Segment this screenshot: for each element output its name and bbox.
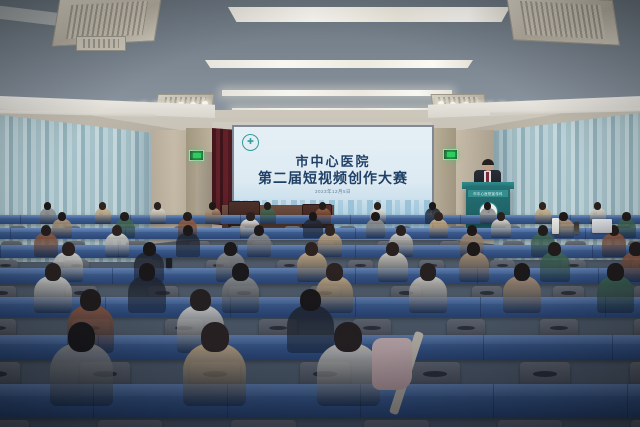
person-torso xyxy=(409,276,446,313)
person-torso xyxy=(540,252,570,282)
person-head xyxy=(319,202,326,210)
person-torso xyxy=(176,233,200,257)
audience-person xyxy=(222,263,259,318)
person-head xyxy=(224,242,237,256)
desk-seam xyxy=(0,245,1,258)
person-head xyxy=(246,212,255,221)
desk-seam xyxy=(350,215,351,224)
person-head xyxy=(429,202,436,210)
person-torso xyxy=(535,208,551,224)
person-head xyxy=(183,225,194,236)
person-head xyxy=(334,322,362,352)
audience-chair[interactable] xyxy=(0,420,29,427)
audience-person xyxy=(247,225,271,260)
person-head xyxy=(386,242,399,256)
audience-chair[interactable] xyxy=(364,420,429,427)
desk-seam xyxy=(493,384,494,418)
person-head xyxy=(62,242,75,256)
person-torso xyxy=(183,343,246,406)
person-head xyxy=(201,322,229,352)
person-head xyxy=(58,212,67,221)
person-head xyxy=(44,202,51,210)
person-torso xyxy=(597,276,634,313)
ac-vent-grille-1 xyxy=(76,36,126,51)
person-head xyxy=(305,242,318,256)
person-head xyxy=(120,212,129,221)
audience-person xyxy=(317,322,380,415)
ceiling-light-band-1 xyxy=(228,7,510,22)
ac-vent-icon-2 xyxy=(506,0,620,46)
person-torso xyxy=(205,208,221,224)
person-head xyxy=(467,242,480,256)
person-torso xyxy=(317,343,380,406)
podium-banner: 市中心医院宣传科 xyxy=(468,190,508,197)
person-head xyxy=(190,289,211,311)
desk-seam xyxy=(460,215,461,224)
audience-person xyxy=(205,202,221,226)
speaker-hair xyxy=(482,159,494,165)
person-head xyxy=(232,263,249,281)
person-head xyxy=(420,263,437,281)
person-torso xyxy=(105,233,129,257)
desk-seam xyxy=(483,335,484,360)
audience-person xyxy=(150,202,166,226)
desk-seam xyxy=(355,297,356,317)
person-head xyxy=(264,202,271,210)
audience-chair[interactable] xyxy=(631,420,640,427)
audience-person xyxy=(459,242,489,286)
pink-garment-on-lap xyxy=(372,338,412,390)
person-head xyxy=(594,202,601,210)
audience-chair[interactable] xyxy=(498,420,563,427)
person-torso xyxy=(247,233,271,257)
audience-person xyxy=(429,212,449,241)
audience-chair[interactable] xyxy=(231,420,296,427)
person-head xyxy=(99,202,106,210)
audience-person xyxy=(491,212,511,241)
desk-seam xyxy=(627,384,628,418)
person-head xyxy=(41,225,52,236)
screen-date-text: 2023年12月5日 xyxy=(234,189,432,195)
person-head xyxy=(139,263,156,281)
person-head xyxy=(209,202,216,210)
desk-seam xyxy=(480,297,481,317)
hospital-cross-circle-icon: ✚ xyxy=(242,134,259,151)
audience-person xyxy=(597,263,634,318)
person-head xyxy=(484,202,491,210)
desk-seam xyxy=(355,228,356,239)
phone-in-hand-icon xyxy=(166,258,172,268)
audience-person xyxy=(535,202,551,226)
person-head xyxy=(622,212,631,221)
ceiling-light-band-2 xyxy=(205,60,473,68)
person-head xyxy=(45,263,62,281)
person-head xyxy=(143,242,156,256)
person-head xyxy=(112,225,123,236)
person-head xyxy=(374,202,381,210)
person-head xyxy=(80,289,101,311)
person-head xyxy=(254,225,265,236)
person-torso xyxy=(128,276,165,313)
audience-person xyxy=(378,242,408,286)
audience-person xyxy=(105,225,129,260)
desk-seam xyxy=(112,268,113,284)
person-head xyxy=(183,212,192,221)
person-head xyxy=(629,242,640,256)
audience-person xyxy=(366,212,386,241)
desk-seam xyxy=(612,335,613,360)
ceiling-light-band-3 xyxy=(222,90,452,96)
person-head xyxy=(514,263,531,281)
person-torso xyxy=(222,276,259,313)
person-head xyxy=(325,225,336,236)
audience-person xyxy=(128,263,165,318)
person-head xyxy=(559,212,568,221)
audience-person xyxy=(540,242,570,286)
audience-person xyxy=(50,322,113,415)
audience-person xyxy=(409,263,446,318)
desk-seam xyxy=(20,215,21,224)
person-torso xyxy=(378,252,408,282)
audience-person xyxy=(260,202,276,226)
person-torso xyxy=(50,343,113,406)
exit-sign-icon-right xyxy=(443,149,458,160)
person-torso xyxy=(366,219,386,239)
screen-title-line2: 第二届短视频创作大赛 xyxy=(234,168,432,188)
person-torso xyxy=(95,208,111,224)
person-torso xyxy=(459,252,489,282)
person-head xyxy=(300,289,321,311)
person-torso xyxy=(503,276,540,313)
person-head xyxy=(467,225,478,236)
audience-person xyxy=(176,225,200,260)
audience-chair[interactable] xyxy=(98,420,163,427)
auditorium-photo: ✚ 市中心医院 第二届短视频创作大赛 2023年12月5日 市中心医院宣传科 ✚ xyxy=(0,0,640,427)
desk-seam xyxy=(592,245,593,258)
person-torso xyxy=(429,219,449,239)
person-head xyxy=(309,212,318,221)
desk-seam xyxy=(585,228,586,239)
desk-seam xyxy=(10,228,11,239)
person-head xyxy=(396,225,407,236)
person-head xyxy=(154,202,161,210)
bottle-dark-icon xyxy=(574,222,579,234)
person-head xyxy=(326,263,343,281)
desk-seam xyxy=(355,268,356,284)
person-head xyxy=(68,322,96,352)
audience-person xyxy=(183,322,246,415)
person-head xyxy=(538,225,549,236)
person-head xyxy=(434,212,443,221)
laptop-open-icon xyxy=(592,219,612,233)
thermos-white-icon xyxy=(552,218,559,234)
person-head xyxy=(607,263,624,281)
person-torso xyxy=(260,208,276,224)
person-torso xyxy=(491,219,511,239)
person-head xyxy=(539,202,546,210)
person-head xyxy=(548,242,561,256)
audience-person xyxy=(503,263,540,318)
person-torso xyxy=(150,208,166,224)
audience-person xyxy=(95,202,111,226)
person-head xyxy=(371,212,380,221)
podium-banner-text: 市中心医院宣传科 xyxy=(473,191,503,196)
desk-seam xyxy=(355,245,356,258)
exit-sign-icon-left xyxy=(189,150,204,161)
